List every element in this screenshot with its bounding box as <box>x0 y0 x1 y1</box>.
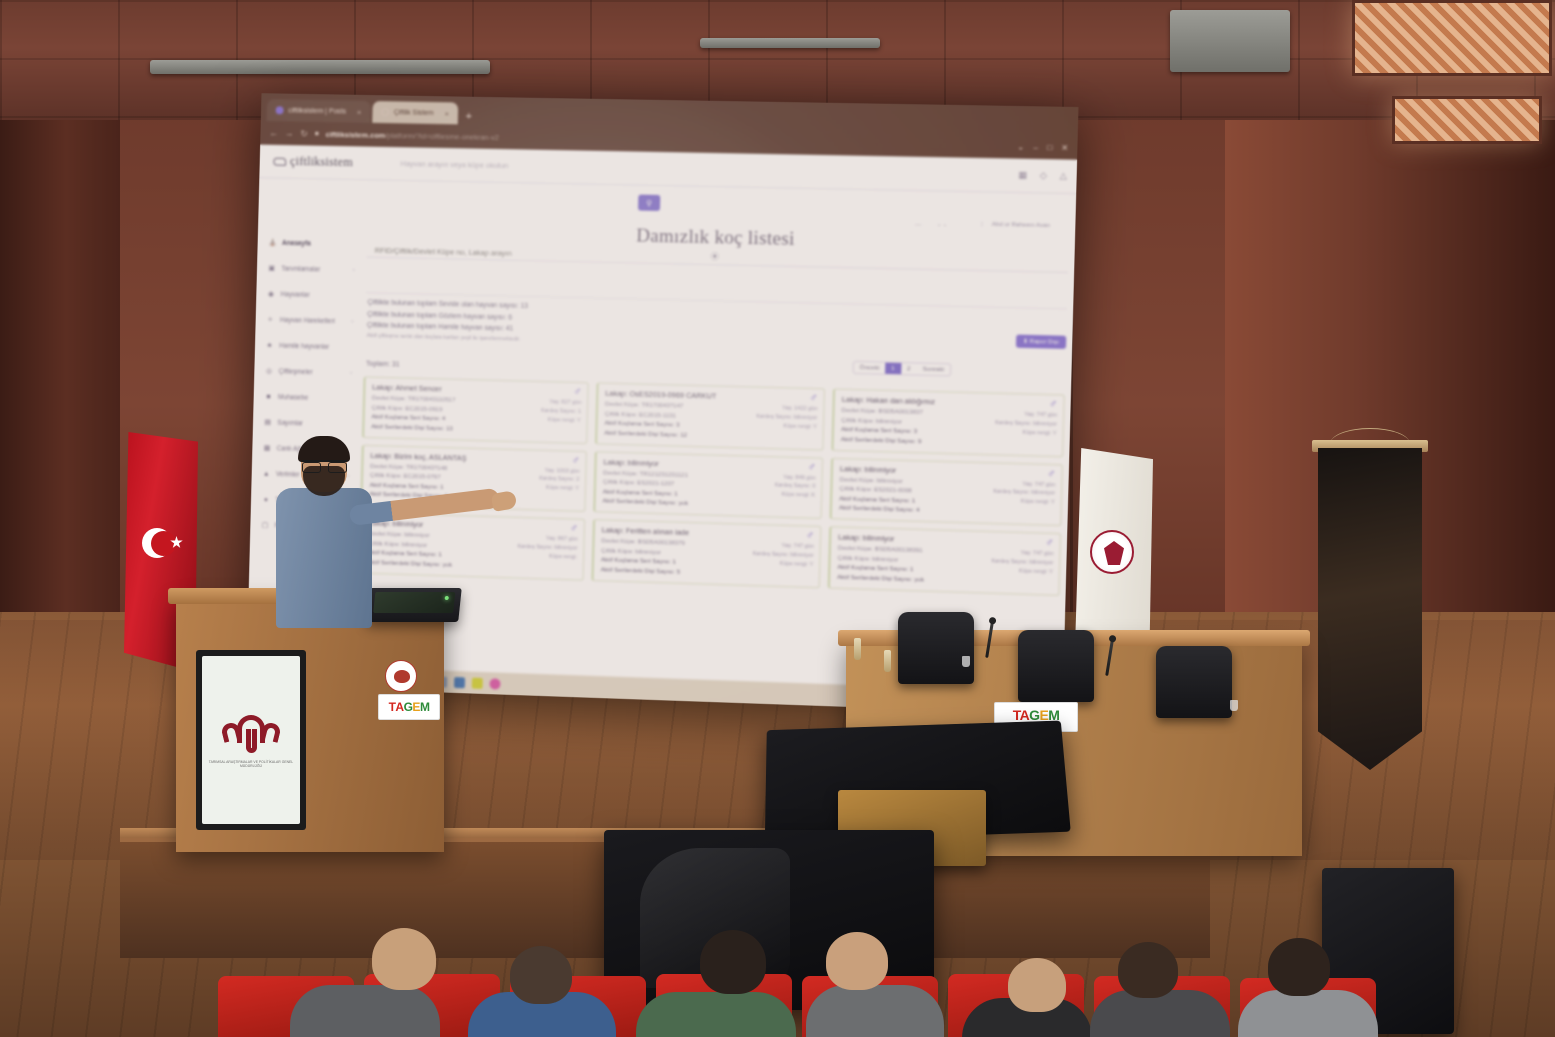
tagem-letter-g: G <box>1029 707 1039 723</box>
ring-favicon <box>381 108 389 116</box>
poster-caption: TARIMSAL ARAŞTIRMALAR VE POLİTİKALAR GEN… <box>202 760 300 768</box>
male-icon: ♂ <box>807 462 816 473</box>
male-icon: ♂ <box>806 531 815 542</box>
sidebar-item-label: Tanımlamalar <box>281 265 320 273</box>
ram-card[interactable]: ♂ Lakap: Feritten alınan iade Devlet Küp… <box>591 519 821 588</box>
tagem-letter-t: T <box>1013 707 1020 723</box>
tagem-letter-e: E <box>412 700 420 714</box>
target-icon: ◎ <box>265 367 273 375</box>
ram-card[interactable]: ♂ Lakap: bilinmiyor Devlet Küpe: bilinmi… <box>830 457 1063 526</box>
browser-tab-active[interactable]: Çiftlik Sistem × <box>372 101 458 124</box>
close-icon[interactable]: ✕ <box>1061 143 1068 152</box>
ceiling-duct <box>700 38 880 48</box>
sidebar-item-sayimlar[interactable]: ▤ Sayımlar <box>253 409 359 438</box>
sidebar-item-hamile-hayvanlar[interactable]: ★ Hamile hayvanlar <box>255 332 361 360</box>
presenter-hand <box>491 490 518 512</box>
pagination-page-1[interactable]: 1 <box>885 363 901 374</box>
tagem-letter-a: A <box>395 700 403 714</box>
reload-icon[interactable]: ↻ <box>300 128 308 139</box>
ram-card[interactable]: ♂ Lakap: Ahmet Sencer Devlet Küpe: TR170… <box>362 376 589 443</box>
audience-head <box>510 946 572 1004</box>
water-glass <box>1230 700 1238 711</box>
chevron-right-icon: › <box>351 319 353 325</box>
close-icon[interactable]: × <box>438 109 449 118</box>
pagination-page-2[interactable]: 2 <box>901 363 917 374</box>
pagination-prev[interactable]: Önceki <box>854 362 886 374</box>
water-bottle <box>884 650 891 672</box>
card-meta: Yaş: 867 gün Kardeş Sayısı: bilinmiyor K… <box>517 534 578 562</box>
pagination: Önceki 1 2 Sonraki <box>852 361 951 377</box>
tagem-letter-g: G <box>404 700 413 714</box>
ceiling-vent <box>1170 10 1290 72</box>
card-meta: Yaş: 747 gün Kardeş Sayısı: bilinmiyor K… <box>752 541 814 569</box>
ram-card[interactable]: ♂ Lakap: bilinmiyor Devlet Küpe: TR12123… <box>593 451 823 519</box>
panel-chair <box>1018 630 1094 702</box>
presenter-person <box>246 440 516 660</box>
grid-icon[interactable]: ▦ <box>1018 170 1026 181</box>
conference-room-scene: ciftliksistem | Posts × Çiftlik Sistem ×… <box>0 0 1555 1037</box>
ministry-seal-icon <box>385 660 417 692</box>
minimize-icon[interactable]: – <box>1033 142 1038 151</box>
audience-person <box>1238 990 1378 1037</box>
audience-head <box>372 928 436 990</box>
presenter-hair <box>298 436 350 462</box>
male-icon: ♂ <box>570 523 578 534</box>
new-tab-button[interactable]: + <box>460 110 479 124</box>
tab-label: ciftliksistem | Posts <box>288 107 346 115</box>
water-bottle <box>854 638 861 660</box>
card-meta: Yaş: 1003 gün Kardeş Sayısı: 2 Küpe reng… <box>539 466 580 493</box>
note-icon[interactable] <box>472 677 483 688</box>
ceiling-light-panel <box>1352 0 1552 76</box>
back-icon[interactable]: ← <box>269 128 278 138</box>
url-path: /platform/?id=ciftlesme-onekran-v2 <box>385 131 499 142</box>
card-meta: Yaş: 849 gün Kardeş Sayısı: 0 Küpe rengi… <box>774 473 815 501</box>
url-text[interactable]: ciftliksistem.com/platform/?id=ciftlesme… <box>326 129 499 141</box>
podium-display: TARIMSAL ARAŞTIRMALAR VE POLİTİKALAR GEN… <box>196 650 306 830</box>
sidebar-item-label: Hayvan Hareketleri <box>280 316 335 324</box>
card-meta: Yaş: 747 gün Kardeş Sayısı: bilinmiyor K… <box>991 548 1054 577</box>
ceiling-light-panel <box>1392 96 1542 144</box>
ministry-seal-icon <box>1090 530 1134 574</box>
ceiling-duct <box>150 60 490 74</box>
forward-icon[interactable]: → <box>285 128 294 138</box>
crescent-shape <box>142 528 172 558</box>
sidebar-item-hayvanlar[interactable]: ◉ Hayvanlar <box>256 281 362 309</box>
male-icon: ♂ <box>571 455 579 466</box>
ataturk-portrait-banner <box>1318 448 1422 770</box>
sidebar-item-hayvan-hareketleri[interactable]: ✧ Hayvan Hareketleri › <box>255 307 361 335</box>
sheep-logo-icon <box>273 156 286 167</box>
bell-icon[interactable]: ◇ <box>1040 170 1047 181</box>
tagem-podium-sign: TAGEM <box>378 694 440 720</box>
sidebar-item-anasayfa[interactable]: ⛪ Anasayfa <box>257 229 363 257</box>
ram-card[interactable]: ♂ Lakap: bilinmiyor Devlet Küpe: BSD5A00… <box>828 526 1061 595</box>
ram-card[interactable]: ♂ Lakap: Hakan dan aldığımız Devlet Küpe… <box>831 389 1064 457</box>
card-meta: Yaş: 747 gün Kardeş Sayısı: bilinmiyor K… <box>995 410 1058 438</box>
total-count-label: Toplam: 31 <box>366 361 400 369</box>
sidebar-item-label: Çiftleşmeler <box>279 368 313 376</box>
pagination-next[interactable]: Sonraki <box>916 363 950 375</box>
help-icon[interactable]: △ <box>1060 171 1067 182</box>
audience-head <box>1268 938 1330 996</box>
circle-favicon <box>276 106 284 114</box>
card-meta: Yaş: 1422 gün Kardeş Sayısı: bilinmiyor … <box>756 404 818 432</box>
audience-head <box>700 930 766 994</box>
male-icon: ♂ <box>809 393 818 404</box>
audience-person <box>636 992 796 1037</box>
male-icon: ♂ <box>1045 538 1054 549</box>
header-search-hint[interactable]: Hayvan arayın veya küpe okutun <box>383 159 509 170</box>
chevron-right-icon: › <box>353 267 355 273</box>
ram-card[interactable]: ♂ Lakap: OsES2019-0969 CARKUT Devlet Küp… <box>595 382 825 450</box>
farm-stats: Çiftlikte bulunan toplam Sevide olan hay… <box>367 297 785 351</box>
clipboard-icon: ▤ <box>264 418 272 426</box>
app-logo[interactable]: çiftliksistem <box>260 153 384 170</box>
tagem-logo-icon <box>222 713 280 753</box>
sidebar-item-label: Anasayfa <box>282 239 311 247</box>
tagem-letter-t: T <box>389 700 396 714</box>
brand-label: çiftliksistem <box>290 154 353 170</box>
volume-icon[interactable] <box>454 676 465 687</box>
sidebar-item-ciftlesmeler[interactable]: ◎ Çiftleşmeler › <box>254 358 360 386</box>
home-icon: ⛪ <box>268 239 276 247</box>
star-icon: ★ <box>266 341 274 349</box>
panel-chair <box>898 612 974 684</box>
sidebar-item-label: Hayvanlar <box>281 291 310 299</box>
tagem-letter-a: A <box>1020 707 1030 723</box>
sidebar-item-tanimlamalar[interactable]: ▣ Tanımlamalar › <box>257 255 363 283</box>
lock-icon: ■ <box>315 130 319 137</box>
glasses-icon <box>302 460 347 469</box>
tagem-letter-m: M <box>420 700 430 714</box>
audience-head <box>1118 942 1178 998</box>
audience-person <box>290 985 440 1037</box>
url-domain: ciftliksistem.com <box>326 129 386 139</box>
card-meta: Yaş: 827 gün Kardeş Sayısı: 1 Küpe rengi… <box>541 398 582 425</box>
audience-person <box>1090 990 1230 1037</box>
close-icon[interactable]: × <box>351 107 362 116</box>
presenter-arm <box>349 488 500 526</box>
male-icon: ♂ <box>573 387 581 398</box>
export-report-button[interactable]: ⬇ Rapor Dışı <box>1015 335 1066 349</box>
github-icon[interactable] <box>489 678 500 689</box>
chevron-down-icon[interactable]: ⌄ <box>1017 142 1024 151</box>
panel-chair <box>1156 646 1232 718</box>
audience-head <box>1008 958 1066 1012</box>
sidebar-item-label: Hamile hayvanlar <box>279 342 329 350</box>
book-icon: ▣ <box>268 264 276 272</box>
water-glass <box>962 656 970 667</box>
sheep-icon: ◉ <box>267 290 275 298</box>
browser-tab[interactable]: ciftliksistem | Posts × <box>267 99 371 123</box>
search-icon[interactable]: ⚲ <box>638 195 660 211</box>
card-meta: Yaş: 747 gün Kardeş Sayısı: bilinmiyor K… <box>993 479 1056 507</box>
tab-label: Çiftlik Sistem <box>394 109 434 117</box>
sidebar-item-label: Muhasebe <box>278 394 308 402</box>
label-lakap: Lakap: <box>372 383 394 392</box>
tagem-podium-poster: TARIMSAL ARAŞTIRMALAR VE POLİTİKALAR GEN… <box>202 656 300 824</box>
chevron-right-icon: › <box>350 370 352 376</box>
male-icon: ♂ <box>1047 468 1056 479</box>
audience-person <box>806 985 944 1037</box>
sidebar-item-label: Sayımlar <box>277 419 303 427</box>
header-icon-group: ▦ ◇ △ <box>1018 170 1077 182</box>
audience-head <box>826 932 888 990</box>
cash-icon: ■ <box>264 393 272 400</box>
window-controls: ⌄ – □ ✕ <box>1017 142 1068 152</box>
male-icon: ♂ <box>1049 399 1058 410</box>
sidebar-item-muhasebe[interactable]: ■ Muhasebe <box>253 384 359 412</box>
maximize-icon[interactable]: □ <box>1047 142 1052 151</box>
value-lakap: Ahmet Sencer <box>396 383 442 393</box>
wrench-icon: ✧ <box>266 316 274 324</box>
